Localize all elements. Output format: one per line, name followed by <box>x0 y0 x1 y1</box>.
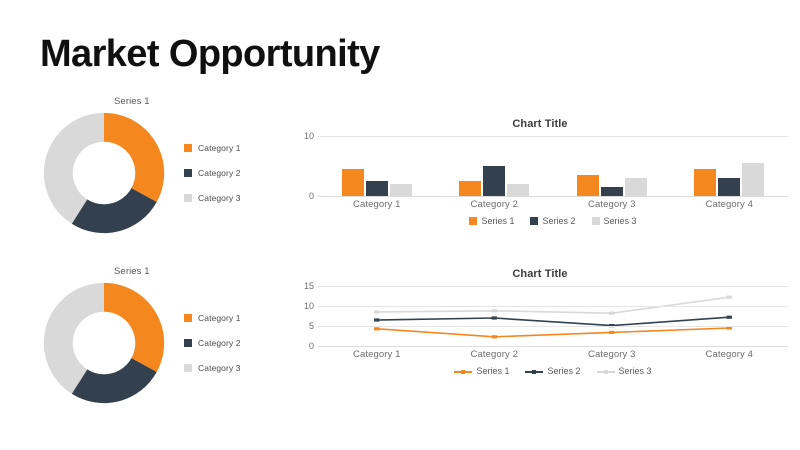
bar-chart-x-axis: Category 1Category 2Category 3Category 4 <box>318 199 788 210</box>
line-marker[interactable] <box>492 316 497 319</box>
legend-item[interactable]: Series 1 <box>469 216 514 226</box>
donut-bottom-graphic[interactable] <box>40 279 168 407</box>
donut-slice-category-1[interactable] <box>104 113 164 202</box>
donut-bottom-legend: Category 1 Category 2 Category 3 <box>184 313 241 373</box>
legend-line-marker <box>525 367 543 375</box>
legend-item[interactable]: Series 2 <box>525 366 580 376</box>
bar[interactable] <box>625 178 647 196</box>
legend-item[interactable]: Category 2 <box>184 338 241 348</box>
line-series[interactable] <box>377 328 730 337</box>
bar[interactable] <box>507 184 529 196</box>
bar-chart-title: Chart Title <box>292 118 788 130</box>
y-axis-tick: 0 <box>309 191 314 201</box>
donut-top-legend: Category 1 Category 2 Category 3 <box>184 143 241 203</box>
legend-swatch <box>469 217 477 225</box>
bar[interactable] <box>601 187 623 196</box>
gridline <box>318 196 788 197</box>
line-chart[interactable]: Chart Title 151050 Category 1Category 2C… <box>292 268 788 376</box>
line-series[interactable] <box>377 317 730 325</box>
x-axis-label: Category 4 <box>671 199 789 210</box>
x-axis-label: Category 2 <box>436 199 554 210</box>
legend-label: Series 3 <box>604 216 637 226</box>
y-axis-tick: 5 <box>309 321 314 331</box>
page-title: Market Opportunity <box>40 34 380 76</box>
slide: Market Opportunity Series 1 Category 1 C… <box>0 0 800 450</box>
bar[interactable] <box>366 181 388 196</box>
legend-item[interactable]: Series 3 <box>597 366 652 376</box>
legend-label: Category 1 <box>198 143 241 153</box>
gridline <box>318 306 788 307</box>
line-marker[interactable] <box>492 335 497 338</box>
legend-label: Series 2 <box>542 216 575 226</box>
line-marker[interactable] <box>374 327 379 330</box>
donut-top-graphic[interactable] <box>40 109 168 237</box>
gridline <box>318 136 788 137</box>
line-marker[interactable] <box>374 318 379 321</box>
legend-label: Category 3 <box>198 363 241 373</box>
legend-label: Series 1 <box>476 366 509 376</box>
line-chart-svg <box>318 286 788 346</box>
x-axis-label: Category 4 <box>671 349 789 360</box>
line-marker[interactable] <box>492 309 497 312</box>
bar-chart-legend: Series 1Series 2Series 3 <box>318 216 788 226</box>
legend-item[interactable]: Category 3 <box>184 363 241 373</box>
line-chart-legend: Series 1Series 2Series 3 <box>318 366 788 376</box>
donut-bottom-svg <box>40 279 168 407</box>
legend-line-marker <box>597 367 615 375</box>
bar-chart-plot-area[interactable] <box>318 136 788 196</box>
legend-label: Series 2 <box>547 366 580 376</box>
legend-item[interactable]: Category 1 <box>184 313 241 323</box>
line-marker[interactable] <box>727 296 732 299</box>
x-axis-label: Category 1 <box>318 199 436 210</box>
bar-chart-y-axis: 100 <box>292 136 318 196</box>
legend-swatch-category-3 <box>184 364 192 372</box>
gridline <box>318 326 788 327</box>
gridline <box>318 346 788 347</box>
legend-swatch-category-3 <box>184 194 192 202</box>
legend-item[interactable]: Category 2 <box>184 168 241 178</box>
bar-chart[interactable]: Chart Title 100 Category 1Category 2Cate… <box>292 118 788 226</box>
bar[interactable] <box>718 178 740 196</box>
legend-swatch-category-1 <box>184 314 192 322</box>
x-axis-label: Category 3 <box>553 349 671 360</box>
donut-slice-category-1[interactable] <box>104 283 164 372</box>
bar-group <box>436 136 554 196</box>
bar[interactable] <box>742 163 764 196</box>
x-axis-label: Category 2 <box>436 349 554 360</box>
y-axis-tick: 0 <box>309 341 314 351</box>
legend-label: Category 1 <box>198 313 241 323</box>
legend-label: Category 2 <box>198 338 241 348</box>
donut-chart-top[interactable]: Series 1 Category 1 Category 2 Catego <box>18 96 288 246</box>
legend-swatch-category-2 <box>184 339 192 347</box>
donut-bottom-title: Series 1 <box>114 266 288 277</box>
bar-group <box>318 136 436 196</box>
line-marker[interactable] <box>374 310 379 313</box>
line-marker[interactable] <box>727 316 732 319</box>
line-chart-title: Chart Title <box>292 268 788 280</box>
y-axis-tick: 10 <box>304 301 314 311</box>
legend-item[interactable]: Category 3 <box>184 193 241 203</box>
legend-swatch-category-2 <box>184 169 192 177</box>
line-chart-plot-area[interactable] <box>318 286 788 346</box>
legend-item[interactable]: Series 2 <box>530 216 575 226</box>
legend-swatch <box>592 217 600 225</box>
legend-line-marker <box>454 367 472 375</box>
bar[interactable] <box>483 166 505 196</box>
legend-item[interactable]: Category 1 <box>184 143 241 153</box>
x-axis-label: Category 1 <box>318 349 436 360</box>
bar[interactable] <box>390 184 412 196</box>
legend-item[interactable]: Series 3 <box>592 216 637 226</box>
donut-top-title: Series 1 <box>114 96 288 107</box>
legend-item[interactable]: Series 1 <box>454 366 509 376</box>
legend-label: Series 3 <box>619 366 652 376</box>
donut-top-svg <box>40 109 168 237</box>
gridline <box>318 286 788 287</box>
bar[interactable] <box>577 175 599 196</box>
bar-group <box>553 136 671 196</box>
legend-swatch-category-1 <box>184 144 192 152</box>
y-axis-tick: 15 <box>304 281 314 291</box>
legend-label: Category 2 <box>198 168 241 178</box>
legend-swatch <box>530 217 538 225</box>
bar-group <box>671 136 789 196</box>
line-chart-x-axis: Category 1Category 2Category 3Category 4 <box>318 349 788 360</box>
line-marker[interactable] <box>609 312 614 315</box>
line-marker[interactable] <box>609 331 614 334</box>
line-chart-y-axis: 151050 <box>292 286 318 346</box>
legend-label: Category 3 <box>198 193 241 203</box>
bar[interactable] <box>694 169 716 196</box>
legend-label: Series 1 <box>481 216 514 226</box>
x-axis-label: Category 3 <box>553 199 671 210</box>
donut-chart-bottom[interactable]: Series 1 Category 1 Category 2 Catego <box>18 266 288 416</box>
bar[interactable] <box>459 181 481 196</box>
bar[interactable] <box>342 169 364 196</box>
y-axis-tick: 10 <box>304 131 314 141</box>
